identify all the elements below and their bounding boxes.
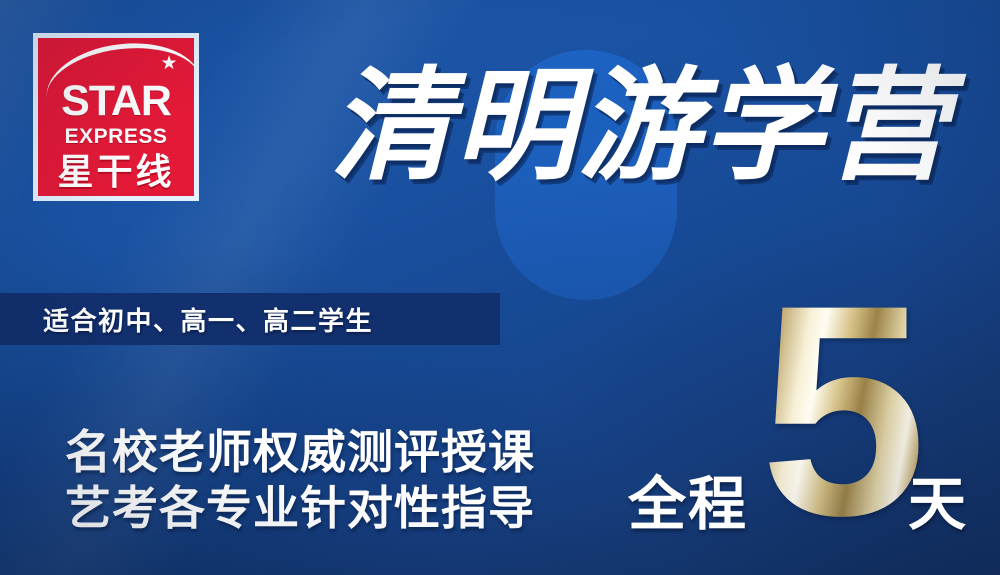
feature-line-2: 艺考各专业针对性指导 — [65, 480, 535, 536]
feature-list: 名校老师权威测评授课 艺考各专业针对性指导 — [65, 424, 535, 536]
duration-unit-label: 天 — [908, 475, 968, 533]
logo-wordmark-express: EXPRESS — [38, 126, 194, 147]
logo-star-glyph: ★ — [160, 54, 177, 73]
page-title: 清明游学营 — [330, 60, 950, 192]
brand-logo[interactable]: ★ STAR EXPRESS 星干线 — [33, 33, 199, 201]
logo-star-icon: ★ — [158, 52, 180, 74]
logo-wordmark-star: STAR — [38, 80, 194, 123]
duration-prefix-label: 全程 — [628, 475, 748, 533]
duration-number: 5 — [760, 293, 927, 527]
subtitle-bar: 适合初中、高一、高二学生 — [0, 293, 500, 345]
logo-red-panel: ★ STAR EXPRESS 星干线 — [38, 38, 194, 196]
logo-wordmark-chinese: 星干线 — [38, 155, 194, 191]
feature-line-1: 名校老师权威测评授课 — [65, 424, 535, 480]
subtitle-text: 适合初中、高一、高二学生 — [43, 301, 373, 338]
promotional-banner: ★ STAR EXPRESS 星干线 清明游学营 适合初中、高一、高二学生 名校… — [0, 0, 1000, 575]
duration-block: 5 全程 天 — [620, 285, 1000, 565]
